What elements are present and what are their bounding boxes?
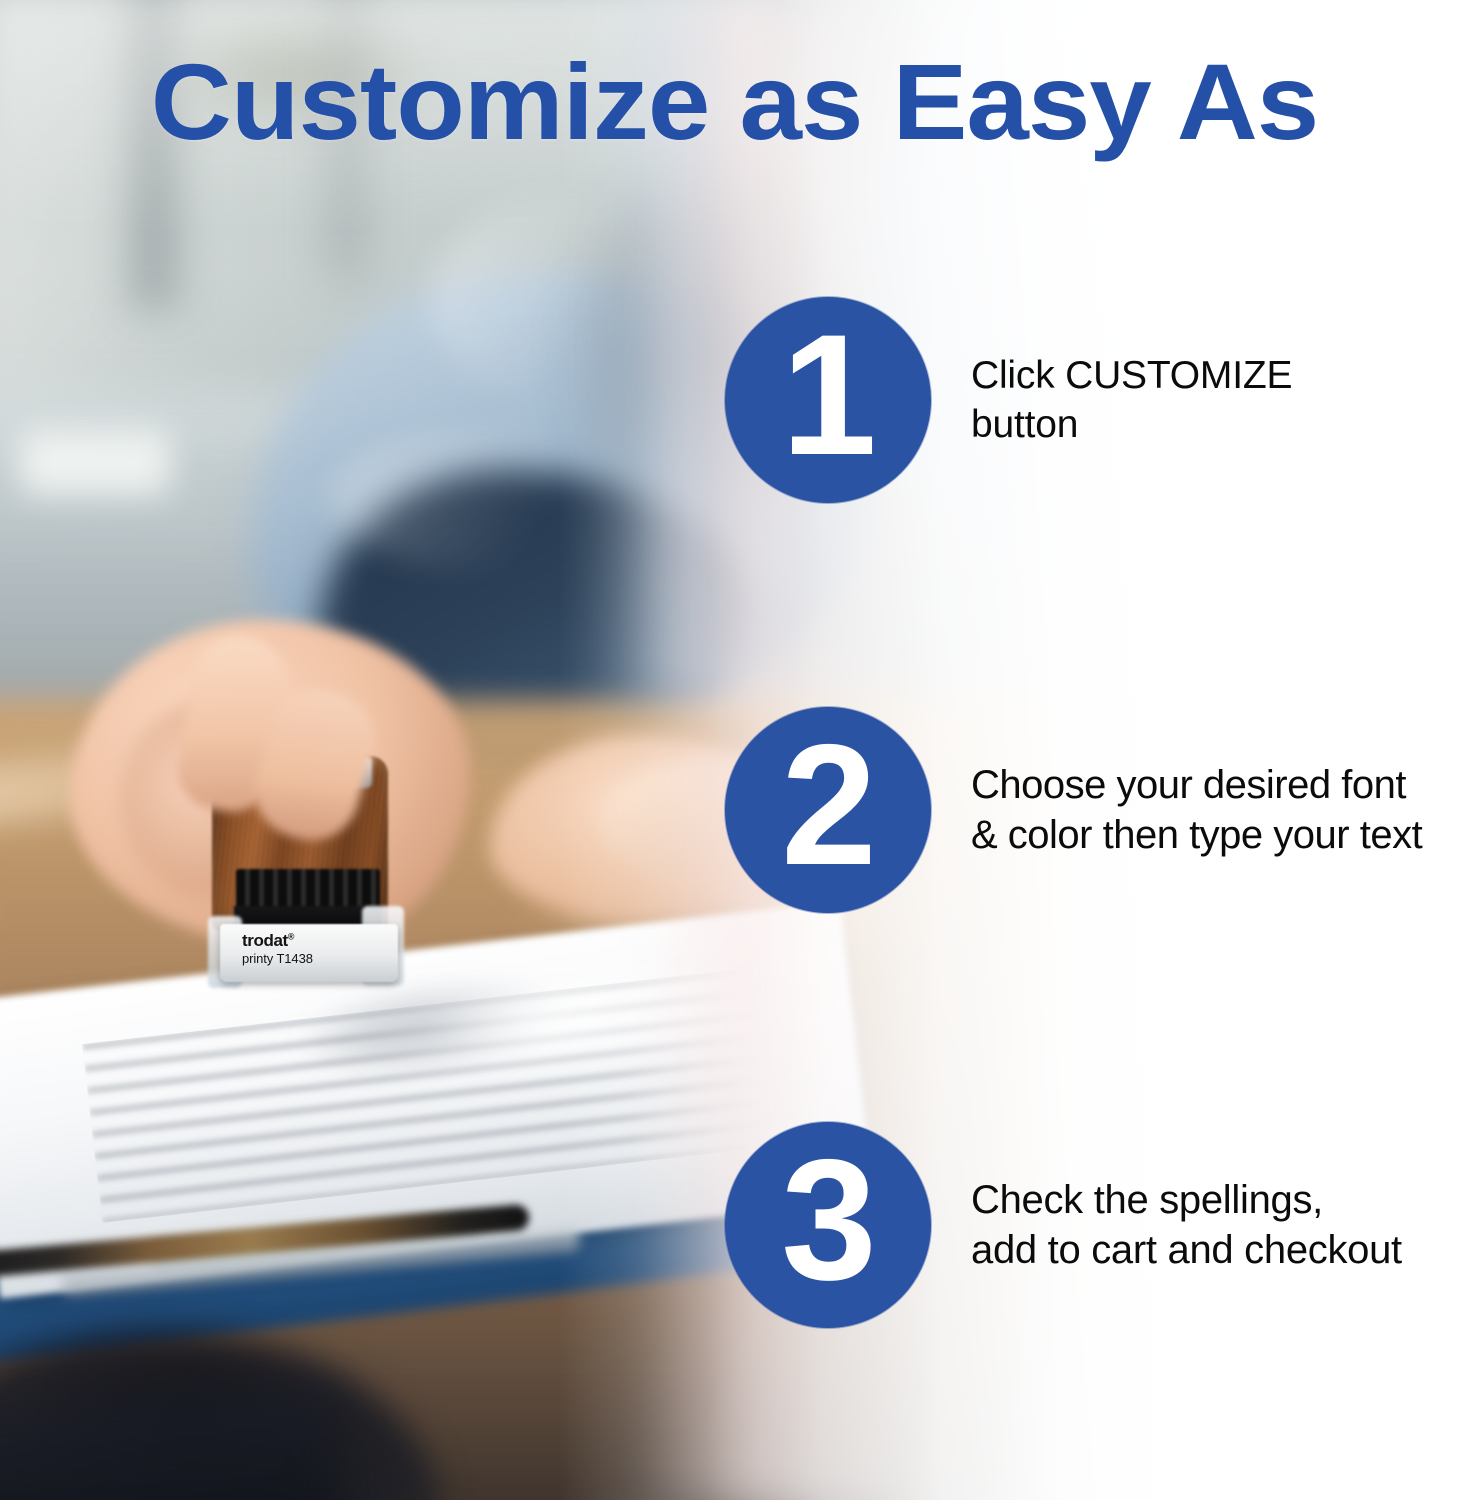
step-number-2: 2 (781, 719, 875, 891)
promo-image-canvas: trodat® printy T1438 Customize as Easy A… (0, 0, 1469, 1500)
step-item-1: 1 Click CUSTOMIZE button (725, 297, 1292, 503)
step-label-3: Check the spellings, add to cart and che… (971, 1175, 1402, 1276)
step-badge-1: 1 (725, 297, 931, 503)
step-number-3: 3 (781, 1134, 875, 1306)
step-number-1: 1 (781, 309, 875, 481)
step-item-3: 3 Check the spellings, add to cart and c… (725, 1122, 1402, 1328)
step-badge-3: 3 (725, 1122, 931, 1328)
step-label-2: Choose your desired font & color then ty… (971, 760, 1422, 861)
steps-list: 1 Click CUSTOMIZE button 2 Choose your d… (0, 0, 1469, 1500)
step-badge-2: 2 (725, 707, 931, 913)
step-item-2: 2 Choose your desired font & color then … (725, 707, 1422, 913)
step-label-1: Click CUSTOMIZE button (971, 351, 1292, 449)
